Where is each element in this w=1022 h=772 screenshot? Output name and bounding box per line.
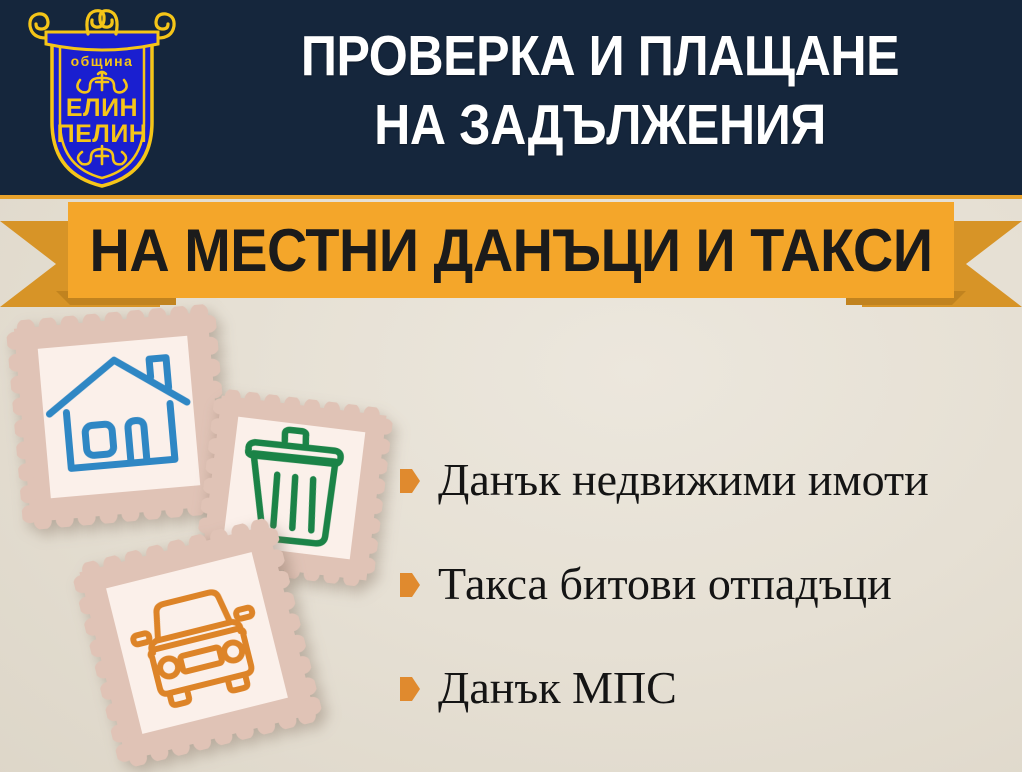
list-item: Данък МПС [400,636,1010,740]
list-item-label: Данък МПС [438,665,677,711]
list-item: Данък недвижими имоти [400,428,1010,532]
municipality-logo: община ЕЛИН ПЕЛИН [22,4,182,194]
page-title: ПРОВЕРКА И ПЛАЩАНЕ НА ЗАДЪЛЖЕНИЯ [239,22,961,160]
subtitle-ribbon: НА МЕСТНИ ДАНЪЦИ И ТАКСИ [0,196,1022,316]
list-item: Такса битови отпадъци [400,532,1010,636]
tax-type-list: Данък недвижими имоти Такса битови отпад… [400,428,1010,740]
page-title-line2: НА ЗАДЪЛЖЕНИЯ [239,91,961,160]
logo-name-line2: ПЕЛИН [57,120,148,148]
logo-small-label: община [71,53,134,69]
stamp-card-property [5,303,233,531]
logo-name-line1: ЕЛИН [66,94,138,122]
arrow-bullet-icon [400,573,420,597]
list-item-label: Такса битови отпадъци [438,561,892,607]
arrow-bullet-icon [400,677,420,701]
ribbon-label: НА МЕСТНИ ДАНЪЦИ И ТАКСИ [99,202,923,298]
page-title-line1: ПРОВЕРКА И ПЛАЩАНЕ [301,24,899,88]
poster-canvas: община ЕЛИН ПЕЛИН ПРОВЕРКА И ПЛАЩАНЕ НА … [0,0,1022,772]
list-item-label: Данък недвижими имоти [438,457,929,503]
arrow-bullet-icon [400,469,420,493]
